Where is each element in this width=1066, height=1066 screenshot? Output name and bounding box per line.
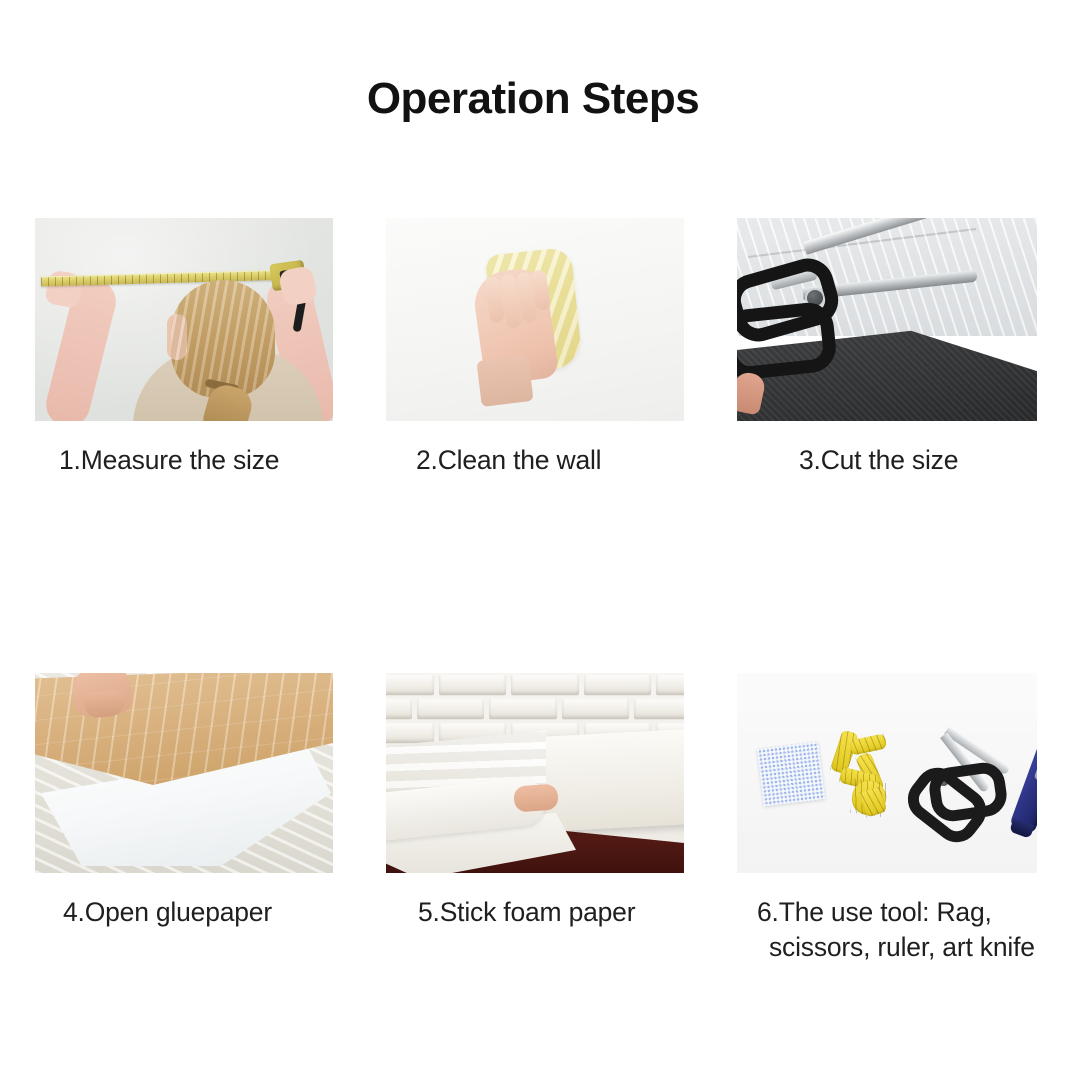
open-gluepaper-photo [35, 673, 333, 873]
step-caption-4: 4.Open gluepaper [35, 895, 333, 930]
row-gap-spacer-right [737, 478, 1037, 673]
brick [656, 675, 684, 695]
brick [386, 675, 434, 695]
tape-measure-icon [832, 731, 894, 816]
wrist-shape [476, 355, 533, 407]
page-title: Operation Steps [0, 74, 1066, 124]
rag-icon [757, 741, 826, 806]
step-caption-6-line2: scissors, ruler, art knife [757, 930, 1037, 965]
scissors-handle-2 [927, 760, 1010, 824]
brick [386, 699, 412, 719]
step-card-6: 6.The use tool: Rag, scissors, ruler, ar… [737, 478, 1037, 965]
step-card-4: 4.Open gluepaper [35, 478, 333, 965]
step-card-3: 3.Cut the size [737, 218, 1037, 478]
step-card-1: 1.Measure the size [35, 218, 333, 478]
step-caption-6-line1: 6.The use tool: Rag, [757, 897, 992, 927]
brick [386, 723, 434, 743]
the-use-tools-photo [737, 673, 1037, 873]
row-gap-spacer-left [35, 478, 333, 673]
stick-foam-paper-photo [386, 673, 684, 873]
head-hair-shape [171, 280, 275, 398]
measure-the-size-photo [35, 218, 333, 421]
step-card-2: 2.Clean the wall [386, 218, 684, 478]
brick [584, 675, 652, 695]
step-caption-3: 3.Cut the size [737, 443, 1037, 478]
step-caption-6: 6.The use tool: Rag, scissors, ruler, ar… [737, 895, 1037, 965]
brick [562, 699, 630, 719]
steps-grid: 1.Measure the size 2.Clean the wall [35, 218, 1035, 965]
clean-the-wall-photo [386, 218, 684, 421]
hand-shape [513, 783, 559, 812]
step-card-5: 5.Stick foam paper [386, 478, 684, 965]
step-caption-5: 5.Stick foam paper [386, 895, 684, 930]
brick [439, 675, 507, 695]
brick [511, 675, 579, 695]
cut-the-size-photo [737, 218, 1037, 421]
brick [634, 699, 684, 719]
hair-strands [171, 280, 275, 398]
brick [417, 699, 485, 719]
step-caption-2: 2.Clean the wall [386, 443, 684, 478]
brick [489, 699, 557, 719]
step-caption-1: 1.Measure the size [35, 443, 333, 478]
hand-peeling-shape [71, 673, 134, 718]
row-gap-spacer-mid [386, 478, 684, 673]
